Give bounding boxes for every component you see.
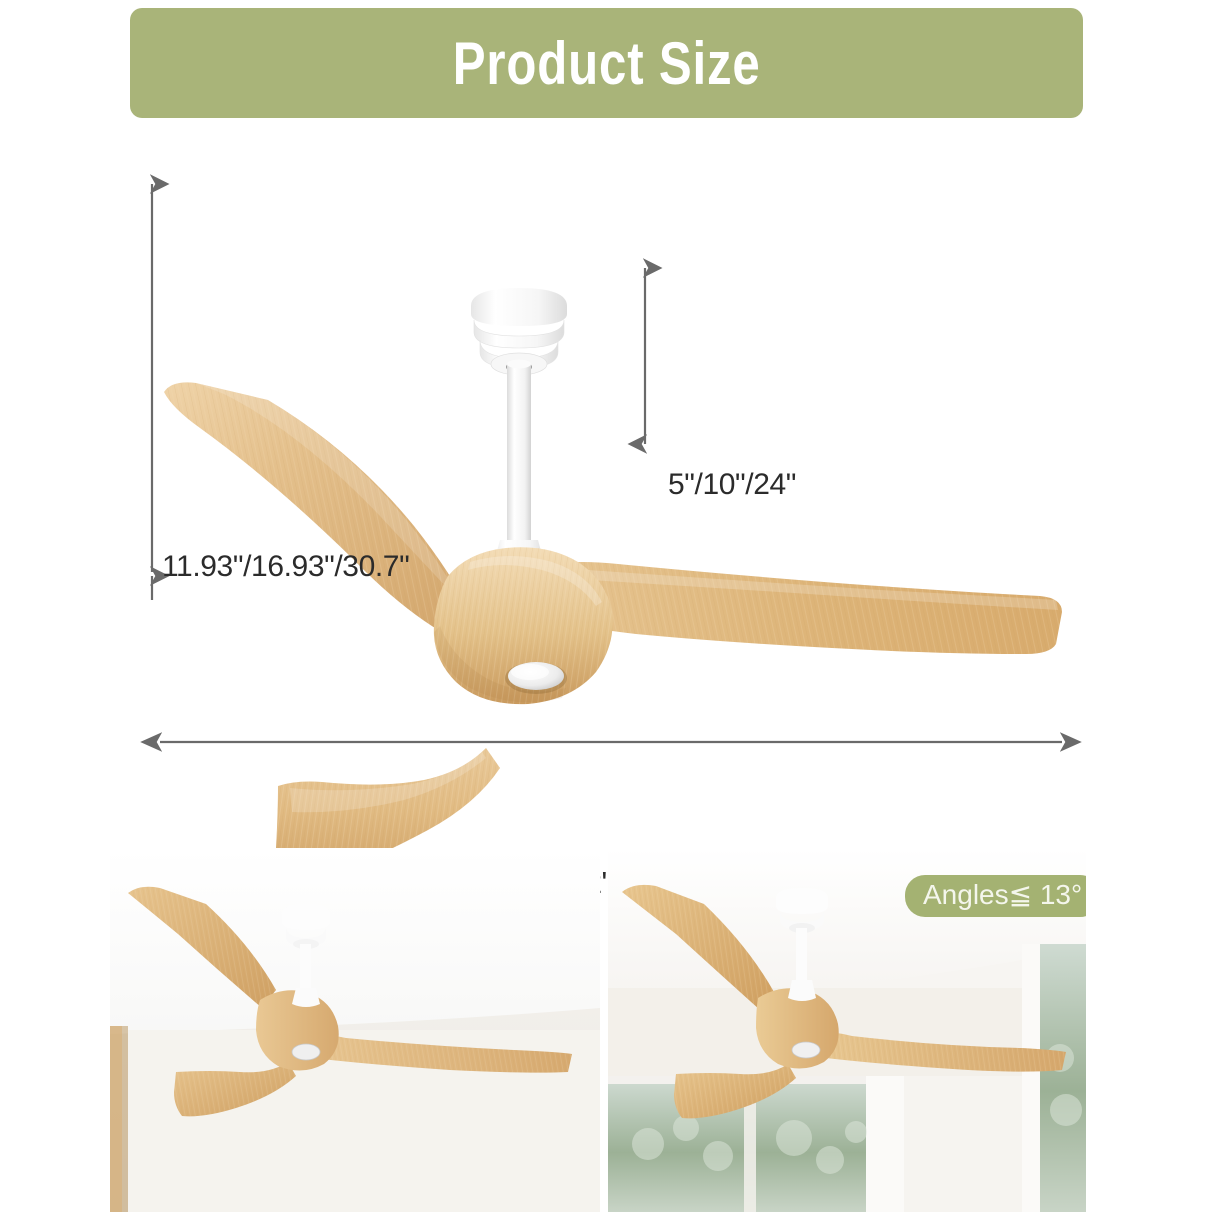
product-photo-bedroom[interactable] xyxy=(110,848,600,1212)
page-title: Product Size xyxy=(453,29,761,98)
product-size-banner: Product Size xyxy=(130,8,1083,118)
dimension-label-drop: 5"/10"/24" xyxy=(668,468,796,502)
dimension-lines xyxy=(0,120,1212,840)
product-photo-gallery: Angles≦ 13° xyxy=(0,848,1212,1212)
angles-badge-label: Angles≦ 13° xyxy=(923,879,1082,910)
dimension-label-height: 11.93"/16.93"/30.7" xyxy=(162,550,409,584)
angles-badge: Angles≦ 13° xyxy=(905,875,1086,917)
product-photo-living-room[interactable]: Angles≦ 13° xyxy=(608,848,1086,1212)
dimension-diagram: 11.93"/16.93"/30.7" 5"/10"/24" 52" xyxy=(0,120,1212,840)
